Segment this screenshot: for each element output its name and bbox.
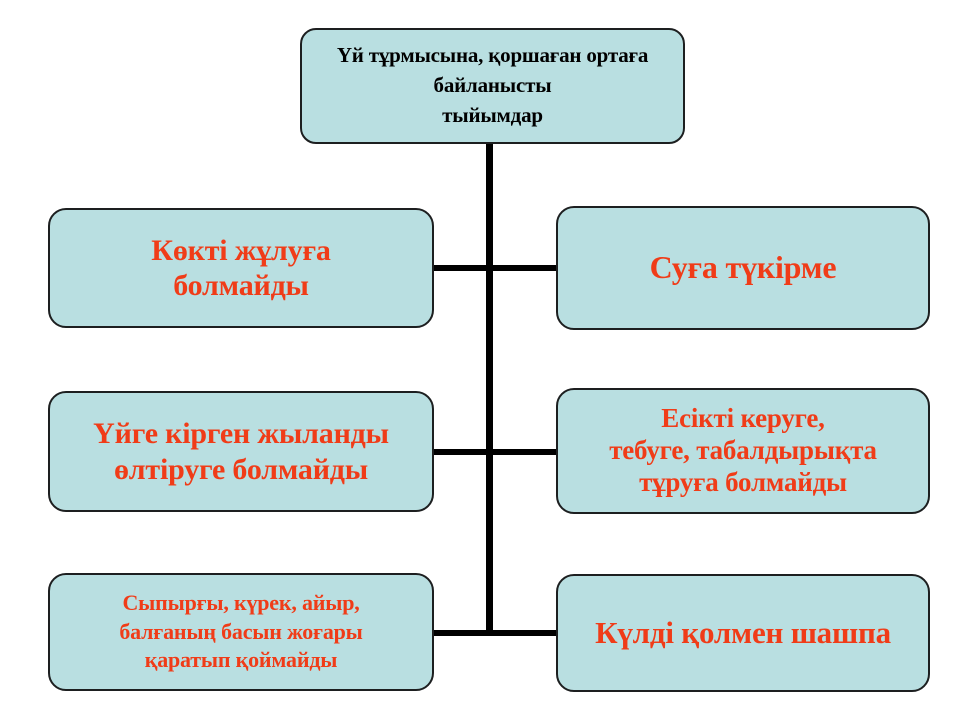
branch-node-esikti-keruge[interactable]: Есікті керуге, тебуге, табалдырықта тұру… [556, 388, 930, 514]
branch-node-kokti-zhuluga-bolmaidy[interactable]: Көкті жұлуға болмайды [48, 208, 434, 328]
branch-node-label: Суға түкірме [558, 249, 928, 287]
branch-node-label: Сыпырғы, күрек, айыр, балғаның басын жоғ… [50, 589, 432, 675]
branch-node-label: Күлді қолмен шашпа [558, 615, 928, 652]
branch-node-sypyrgy-kurek-aiyr[interactable]: Сыпырғы, күрек, айыр, балғаның басын жоғ… [48, 573, 434, 691]
branch-node-label: Есікті керуге, тебуге, табалдырықта тұру… [558, 403, 928, 499]
connector-row1-horizontal [432, 265, 560, 271]
branch-node-kuldi-kolmen-shashpa[interactable]: Күлді қолмен шашпа [556, 574, 930, 692]
root-node-label: Үй тұрмысына, қоршаған ортаға байланысты… [302, 41, 683, 130]
connector-row3-horizontal [432, 630, 560, 636]
branch-node-label: Көкті жұлуға болмайды [50, 233, 432, 304]
branch-node-suga-tukirme[interactable]: Суға түкірме [556, 206, 930, 330]
connector-row2-horizontal [432, 449, 560, 455]
diagram-canvas: Үй тұрмысына, қоршаған ортаға байланысты… [0, 0, 960, 720]
connector-trunk-vertical [486, 144, 493, 636]
branch-node-uige-kirgen-zhylandy[interactable]: Үйге кірген жыланды өлтіруге болмайды [48, 391, 434, 512]
root-node[interactable]: Үй тұрмысына, қоршаған ортаға байланысты… [300, 28, 685, 144]
branch-node-label: Үйге кірген жыланды өлтіруге болмайды [50, 416, 432, 487]
